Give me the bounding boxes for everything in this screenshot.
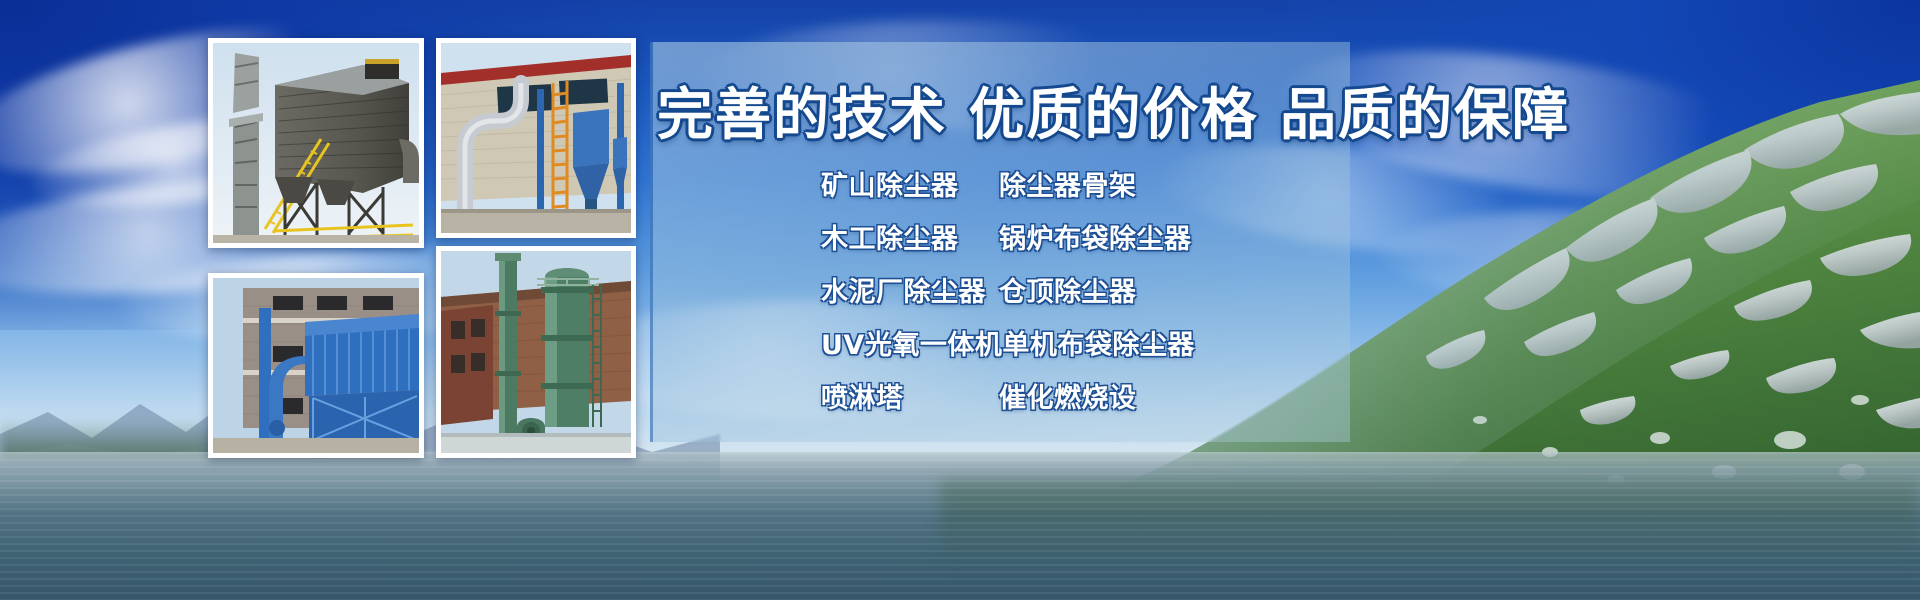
product-name: 喷淋塔 [821,376,999,415]
list-item[interactable]: 水泥厂除尘器 仓顶除尘器 [821,270,1195,309]
product-name: 除尘器骨架 [999,164,1137,203]
list-item[interactable]: 木工除尘器 锅炉布袋除尘器 [821,217,1195,256]
product-name: 水泥厂除尘器 [821,270,999,309]
product-name: 木工除尘器 [821,217,999,256]
workshop-duct-image [441,43,631,233]
text-panel: 完善的技术 优质的价格 品质的保障 矿山除尘器 除尘器骨架 木工除尘器 锅炉布袋… [650,42,1350,442]
photo-green-scrubber-tower-stack[interactable] [436,246,636,458]
product-list: 矿山除尘器 除尘器骨架 木工除尘器 锅炉布袋除尘器 水泥厂除尘器 仓顶除尘器 U… [821,164,1195,415]
product-name: 锅炉布袋除尘器 [999,217,1192,256]
scrubber-tower-image [441,251,631,453]
photo-workshop-duct-dust-collector[interactable] [436,38,636,238]
page-title: 完善的技术 优质的价格 品质的保障 [657,70,1349,151]
photo-baghouse-dust-collector-plant[interactable] [208,38,424,248]
promo-banner: 完善的技术 优质的价格 品质的保障 矿山除尘器 除尘器骨架 木工除尘器 锅炉布袋… [0,0,1920,600]
photo-blue-dust-collector-brick-building[interactable] [208,273,424,458]
product-name: UV光氧一体机 [821,323,1002,362]
product-name: 仓顶除尘器 [999,270,1137,309]
list-item[interactable]: 喷淋塔 催化燃烧设 [821,376,1195,415]
list-item[interactable]: 矿山除尘器 除尘器骨架 [821,164,1195,203]
product-name: 催化燃烧设 [999,376,1137,415]
product-name: 单机布袋除尘器 [1002,323,1195,362]
list-item[interactable]: UV光氧一体机 单机布袋除尘器 [821,323,1195,362]
product-name: 矿山除尘器 [821,164,999,203]
baghouse-dust-collector-image [213,43,419,243]
blue-dust-collector-image [213,278,419,453]
water-highlight [0,452,1920,600]
photo-collage [208,38,636,458]
